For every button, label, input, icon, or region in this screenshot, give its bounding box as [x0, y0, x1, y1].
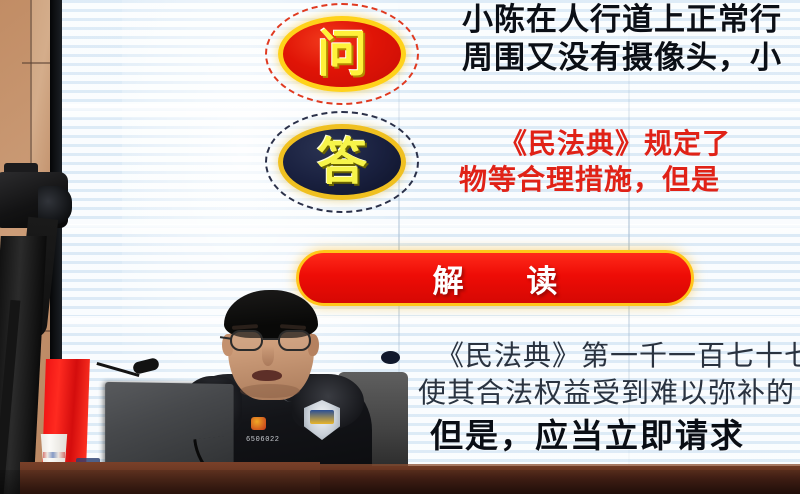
glasses-bridge	[263, 338, 278, 340]
question-text-line1: 小陈在人行道上正常行	[462, 2, 782, 38]
answer-text-line2: 物等合理措施，但是	[459, 162, 731, 198]
speaker-mouth	[252, 370, 282, 381]
bullet-text-block: 《民法典》第一千一百七十七 使其合法权益受到难以弥补的	[436, 338, 800, 412]
answer-text-line1: 《民法典》规定了	[499, 127, 731, 160]
emphasis-text-line: 但是，应当立即请求	[430, 418, 745, 454]
bullet-text-line1: 《民法典》第一千一百七十七	[436, 339, 800, 372]
speaker-nose	[262, 346, 274, 366]
presentation-photo-scene: 问 小陈在人行道上正常行 周围又没有摄像头，小 答 《民法典》规定了 物等合理措…	[0, 0, 800, 494]
glasses-lens-left	[230, 330, 263, 351]
question-badge: 问	[278, 16, 406, 92]
speaker-chin-shadow	[240, 384, 300, 398]
police-patch-emblem	[310, 410, 334, 424]
bullet-point-icon	[381, 351, 400, 364]
podium-front-panel	[20, 462, 320, 494]
bullet-text-line2: 使其合法权益受到难以弥补的	[418, 375, 800, 412]
answer-text-block: 《民法典》规定了 物等合理措施，但是	[499, 126, 731, 199]
question-text-line2: 周围又没有摄像头，小	[462, 40, 782, 76]
answer-badge: 答	[278, 124, 406, 200]
chest-emblem-icon	[251, 417, 266, 430]
question-badge-glyph: 问	[317, 29, 367, 79]
paper-cup-print	[43, 452, 65, 458]
section-banner-label: 解 读	[407, 256, 584, 301]
answer-badge-glyph: 答	[317, 137, 367, 187]
glasses-lens-right	[278, 330, 311, 351]
question-text-block: 小陈在人行道上正常行 周围又没有摄像头，小	[462, 2, 782, 78]
